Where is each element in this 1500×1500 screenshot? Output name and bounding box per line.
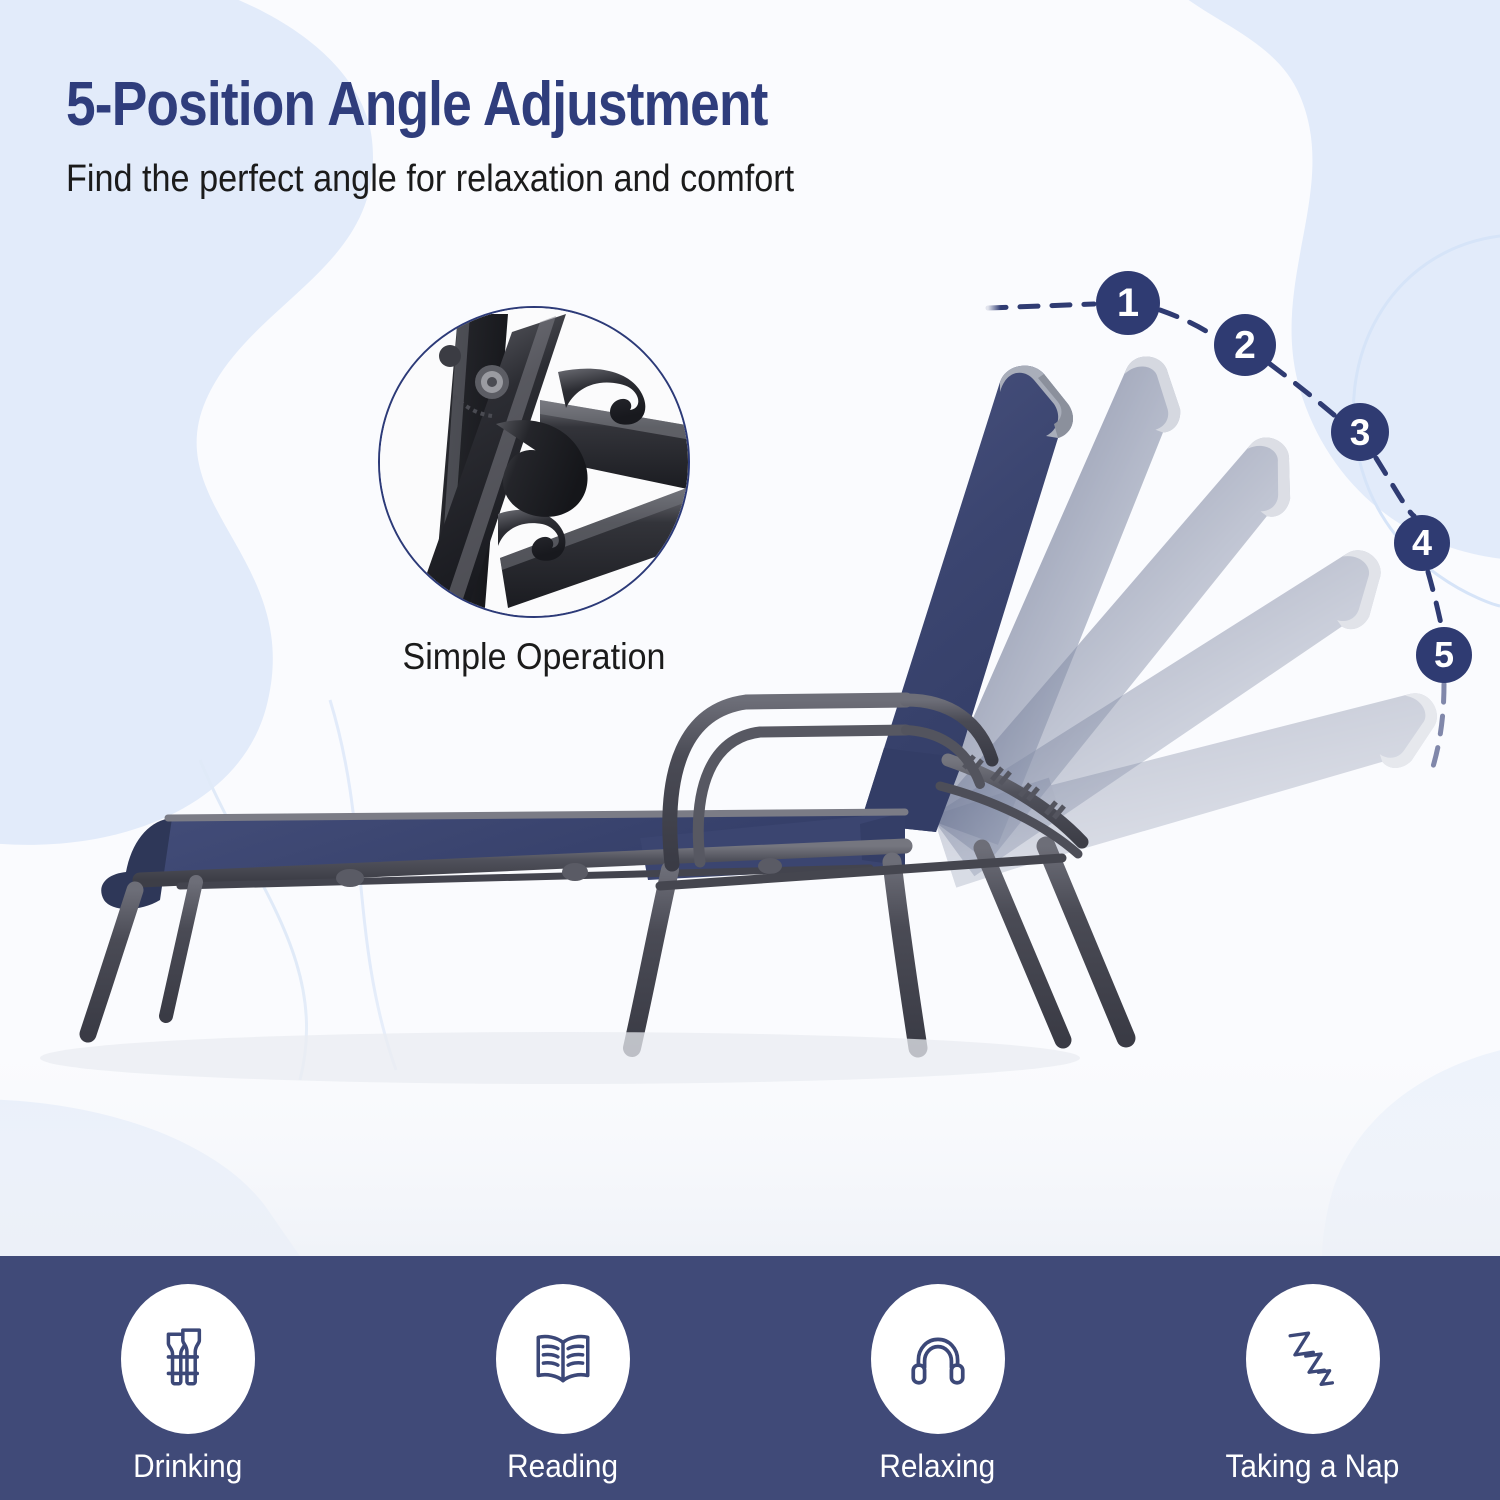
feature-relaxing[interactable]: Relaxing	[750, 1256, 1125, 1500]
feature-relaxing-label: Relaxing	[880, 1448, 996, 1485]
feature-reading-label: Reading	[507, 1448, 618, 1485]
zzz-sleep-icon	[1280, 1326, 1346, 1392]
feature-reading-badge	[496, 1284, 630, 1434]
feature-drinking-label: Drinking	[133, 1448, 242, 1485]
headphones-icon	[905, 1326, 971, 1392]
position-marker-5-label: 5	[1434, 637, 1454, 673]
position-marker-1-label: 1	[1117, 283, 1139, 323]
position-marker-3-label: 3	[1350, 414, 1371, 451]
position-marker-2-label: 2	[1234, 326, 1256, 365]
feature-bar: Drinking Reading	[0, 1256, 1500, 1500]
position-marker-1[interactable]: 1	[1096, 271, 1160, 335]
position-marker-3[interactable]: 3	[1331, 403, 1389, 461]
feature-drinking-badge	[121, 1284, 255, 1434]
bottles-icon	[155, 1326, 221, 1392]
open-book-icon	[530, 1326, 596, 1392]
position-marker-2[interactable]: 2	[1214, 314, 1276, 376]
position-marker-4[interactable]: 4	[1394, 515, 1450, 571]
position-marker-5[interactable]: 5	[1416, 627, 1472, 683]
feature-drinking[interactable]: Drinking	[0, 1256, 375, 1500]
feature-reading[interactable]: Reading	[375, 1256, 750, 1500]
feature-taking-a-nap-badge	[1246, 1284, 1380, 1434]
position-marker-4-label: 4	[1412, 525, 1432, 561]
feature-relaxing-badge	[871, 1284, 1005, 1434]
feature-taking-a-nap-label: Taking a Nap	[1226, 1448, 1400, 1485]
feature-taking-a-nap[interactable]: Taking a Nap	[1125, 1256, 1500, 1500]
